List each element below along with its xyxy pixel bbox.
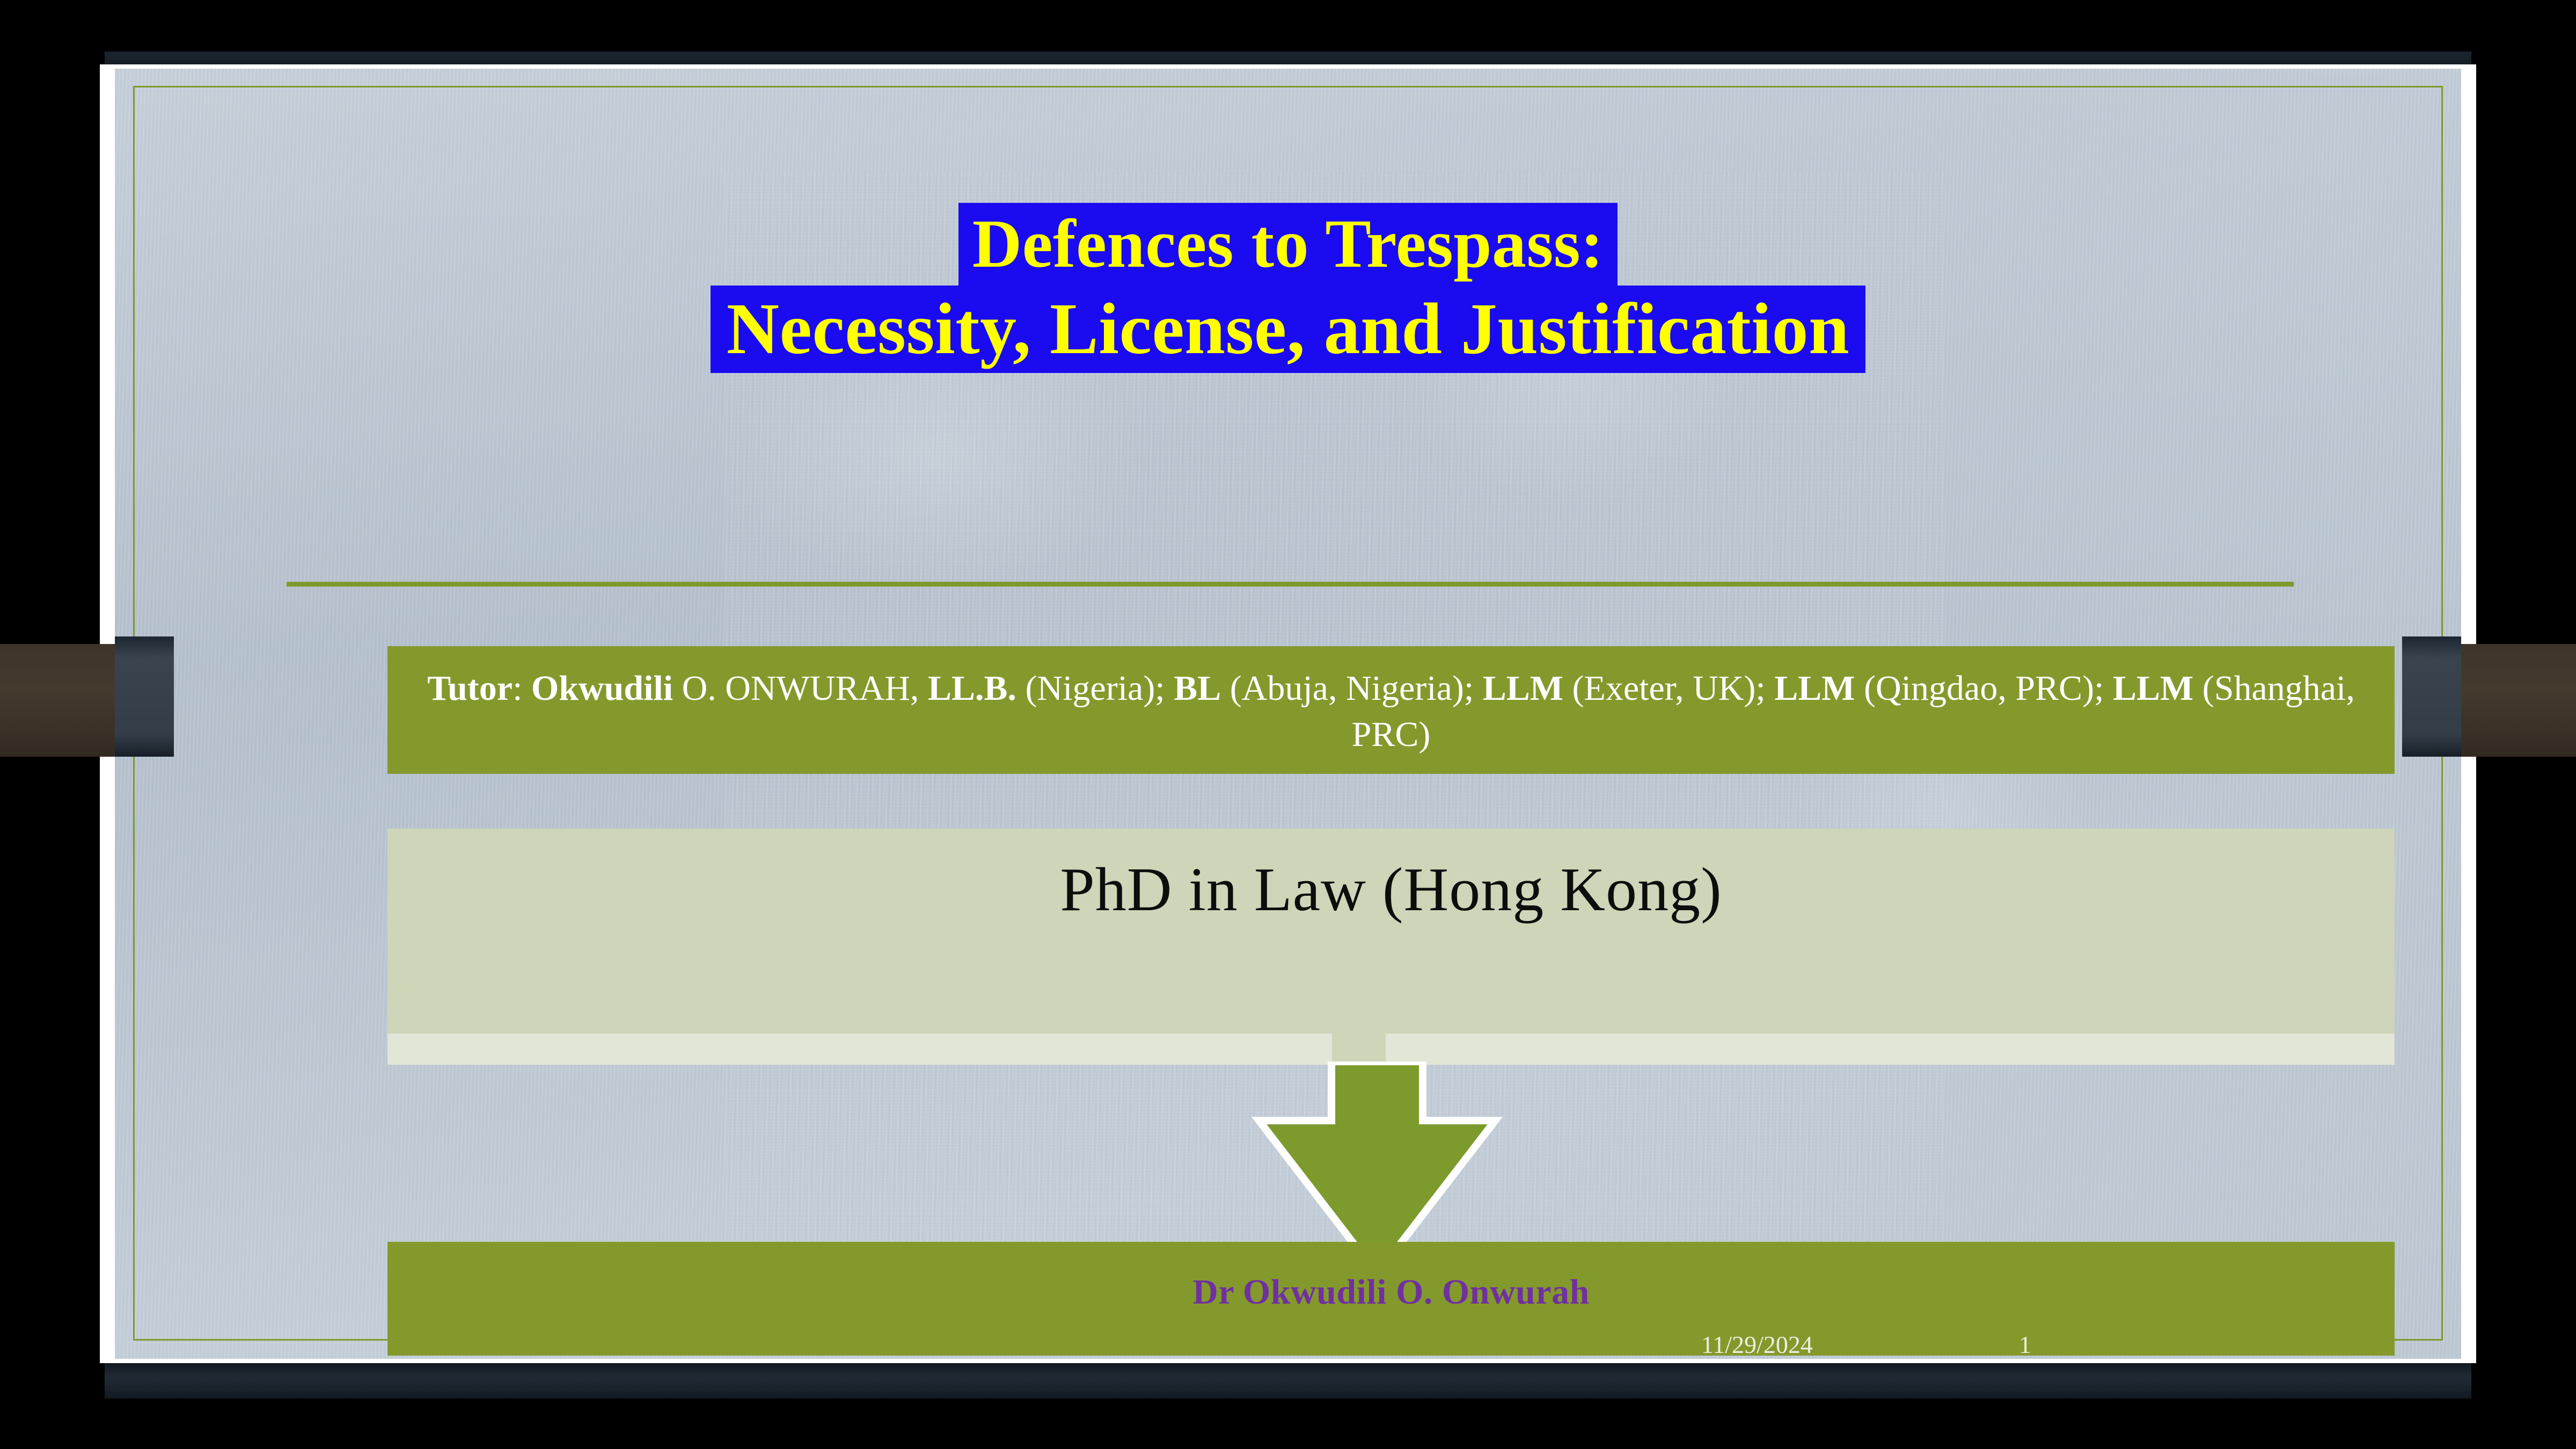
slide-number: 1	[2019, 1330, 2031, 1359]
tutor-label: Tutor	[427, 669, 513, 708]
tutor-qualification-1-place: (Nigeria);	[1016, 669, 1174, 708]
tutor-qualification-2: BL	[1174, 669, 1221, 708]
tutor-credentials-block: Tutor: Okwudili O. ONWURAH, LL.B. (Niger…	[387, 646, 2395, 774]
tutor-qualification-4-place: (Qingdao, PRC);	[1855, 669, 2113, 708]
slide-title: Defences to Trespass: Necessity, License…	[115, 203, 2461, 373]
degree-panel-strip-left	[387, 1034, 1332, 1065]
tutor-qualification-5: LLM	[2113, 669, 2193, 708]
right-brown-bar	[2461, 644, 2576, 757]
tutor-separator: :	[513, 669, 531, 708]
degree-text: PhD in Law (Hong Kong)	[387, 854, 2395, 926]
tutor-qualification-3-place: (Exeter, UK);	[1563, 669, 1774, 708]
left-brown-bar	[0, 644, 115, 757]
degree-panel: PhD in Law (Hong Kong)	[387, 829, 2395, 1065]
tutor-qualification-1: LL.B.	[928, 669, 1016, 708]
slide-date: 11/29/2024	[1701, 1330, 1813, 1359]
slide-deck-frame: Defences to Trespass: Necessity, License…	[0, 0, 2576, 1449]
title-line-1: Defences to Trespass:	[958, 203, 1618, 286]
title-line-2: Necessity, License, and Justification	[711, 286, 1865, 373]
tutor-first-name: Okwudili	[531, 669, 673, 708]
presenter-bar: Dr Okwudili O. Onwurah	[387, 1242, 2395, 1356]
left-side-tab[interactable]	[115, 636, 174, 757]
tutor-qualification-4: LLM	[1774, 669, 1855, 708]
tutor-qualification-3: LLM	[1483, 669, 1563, 708]
right-side-tab[interactable]	[2402, 636, 2461, 757]
presenter-name: Dr Okwudili O. Onwurah	[387, 1272, 2395, 1313]
slide-canvas: Defences to Trespass: Necessity, License…	[115, 69, 2461, 1359]
tutor-rest-name: O. ONWURAH,	[673, 669, 928, 708]
degree-panel-strip-right	[1386, 1034, 2395, 1065]
tutor-qualification-2-place: (Abuja, Nigeria);	[1221, 669, 1483, 708]
title-divider-rule	[287, 582, 2294, 587]
